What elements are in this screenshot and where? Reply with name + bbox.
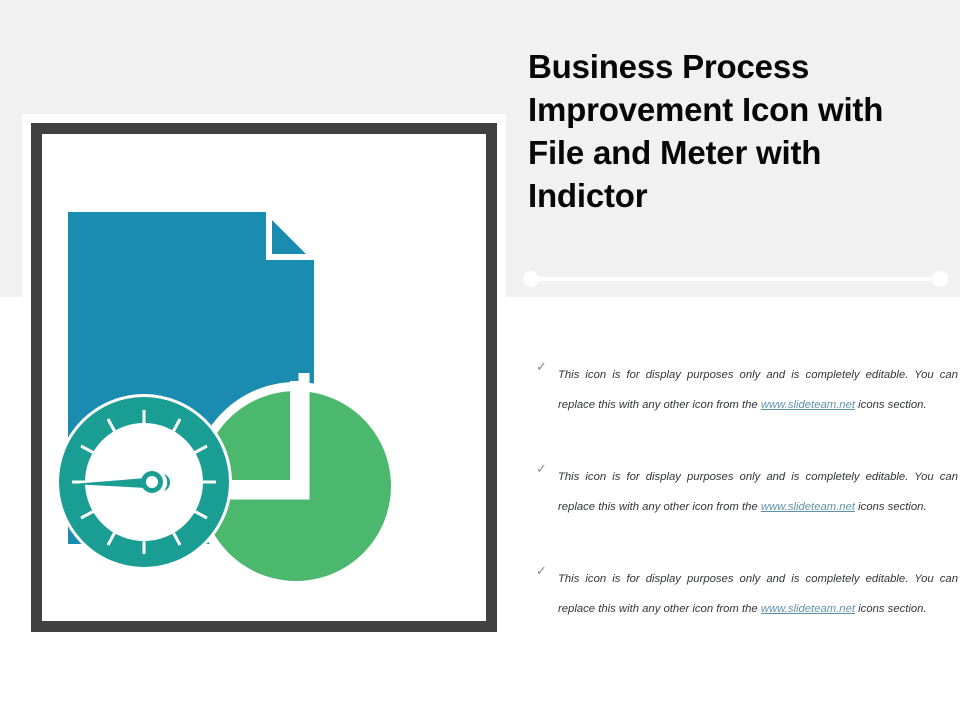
slideteam-link[interactable]: www.slideteam.net [761,399,855,411]
list-item-text: This icon is for display purposes only a… [558,462,958,522]
business-process-improvement-icon [42,134,486,621]
gauge-meter-shape [56,394,232,570]
list-item-text-after: icons section. [855,399,927,411]
list-item: ✓ This icon is for display purposes only… [536,462,960,522]
check-icon: ✓ [536,361,550,375]
divider [523,271,948,287]
list-item-text-after: icons section. [855,501,927,513]
page-title: Business Process Improvement Icon with F… [528,45,948,217]
divider-line [531,277,940,281]
list-item: ✓ This icon is for display purposes only… [536,564,960,624]
slideteam-link[interactable]: www.slideteam.net [761,603,855,615]
list-item-text: This icon is for display purposes only a… [558,564,958,624]
slide-canvas: Business Process Improvement Icon with F… [0,0,960,720]
slideteam-link[interactable]: www.slideteam.net [761,501,855,513]
check-icon: ✓ [536,463,550,477]
list-item-text: This icon is for display purposes only a… [558,360,958,420]
check-icon: ✓ [536,565,550,579]
right-content-column: Business Process Improvement Icon with F… [528,0,960,720]
bullet-list: ✓ This icon is for display purposes only… [536,360,960,624]
divider-dot-right-icon [932,271,948,287]
list-item: ✓ This icon is for display purposes only… [536,360,960,420]
list-item-text-after: icons section. [855,603,927,615]
